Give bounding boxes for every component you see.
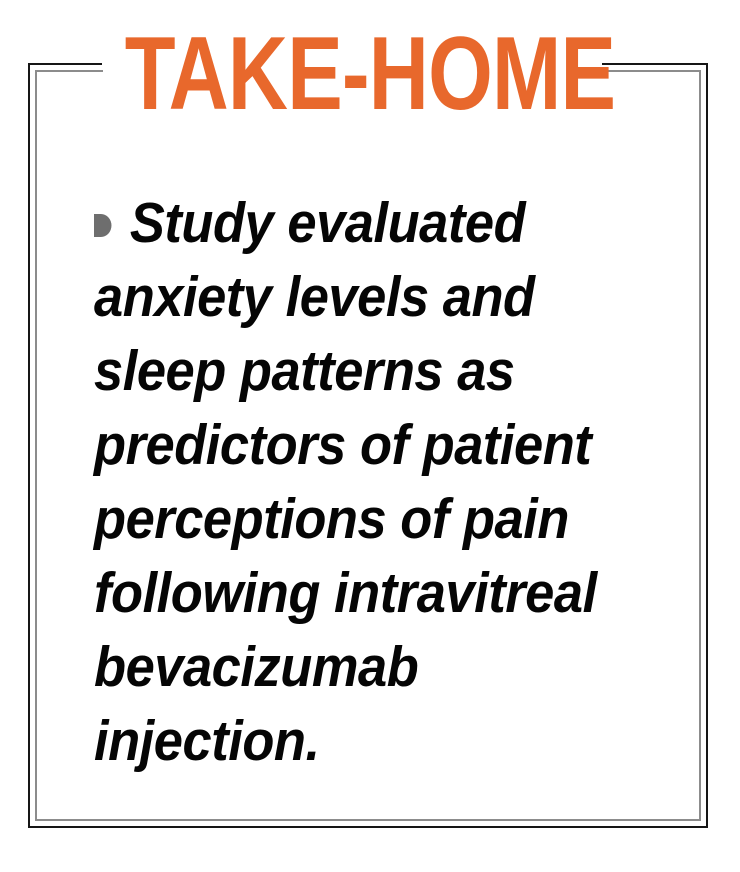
body-line: following intravitreal <box>94 556 591 630</box>
body-line-text: Study evaluated <box>130 186 525 260</box>
take-home-callout-card: TAKE-HOME Study evaluated anxiety levels… <box>0 0 740 872</box>
take-home-title: TAKE-HOME <box>74 18 666 130</box>
body-line: anxiety levels and <box>94 260 591 334</box>
frame-outer-bottom-edge <box>28 826 708 828</box>
frame-inner-bottom-edge <box>35 819 701 821</box>
body-line: injection. <box>94 704 591 778</box>
frame-inner-left-edge <box>35 70 37 821</box>
body-line: predictors of patient <box>94 408 591 482</box>
triangle-right-bullet-icon <box>94 214 111 237</box>
take-home-body: Study evaluated anxiety levels and sleep… <box>94 186 634 778</box>
frame-inner-right-edge <box>699 70 701 821</box>
frame-outer-left-edge <box>28 63 30 828</box>
body-line: Study evaluated <box>94 186 591 260</box>
frame-outer-right-edge <box>706 63 708 828</box>
body-line: bevacizumab <box>94 630 591 704</box>
body-line: sleep patterns as <box>94 334 591 408</box>
body-line: perceptions of pain <box>94 482 591 556</box>
